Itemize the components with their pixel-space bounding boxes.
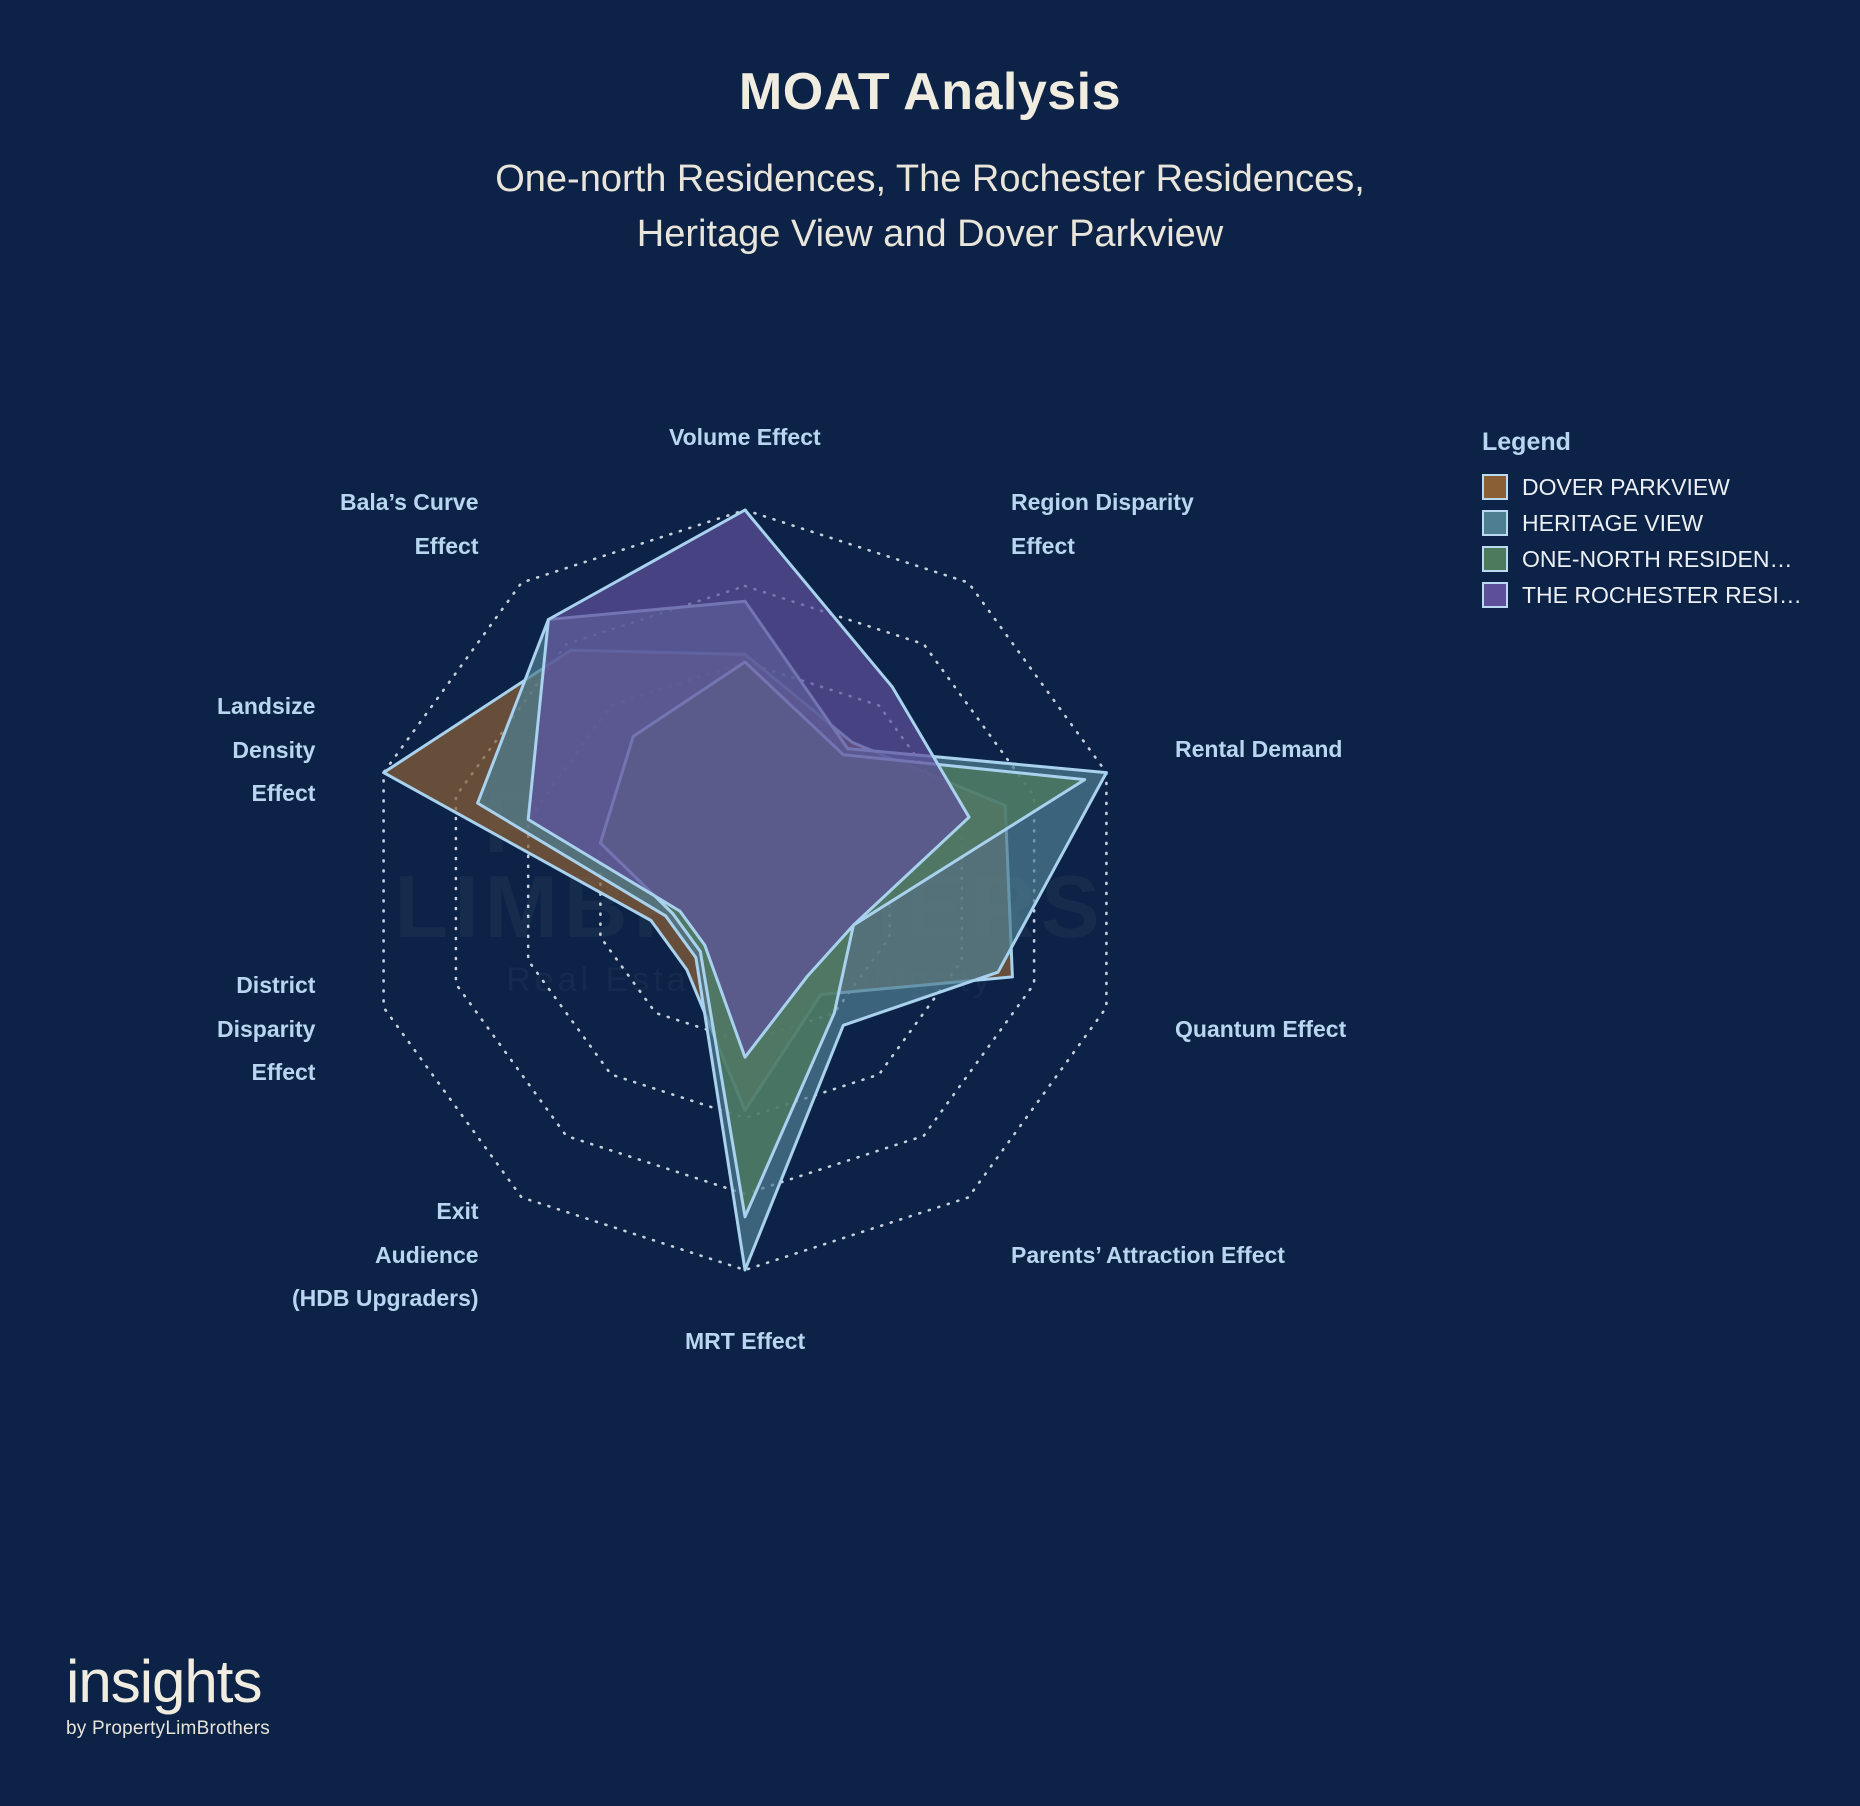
axis-label-line: Region Disparity (1011, 481, 1194, 525)
axis-label-district-disparity-effect: DistrictDisparityEffect (217, 964, 315, 1095)
legend-item[interactable]: HERITAGE VIEW (1482, 505, 1802, 541)
legend-item-label: HERITAGE VIEW (1522, 510, 1703, 537)
axis-label-line: District (217, 964, 315, 1008)
legend-swatch-icon (1482, 474, 1508, 500)
legend-swatch-icon (1482, 546, 1508, 572)
axis-label-region-disparity-effect: Region DisparityEffect (1011, 481, 1194, 568)
legend-item[interactable]: ONE-NORTH RESIDEN… (1482, 541, 1802, 577)
axis-label-line: Density (217, 729, 315, 773)
legend-title: Legend (1482, 428, 1802, 457)
brand-logo: insights by PropertyLimBrothers (66, 1652, 270, 1740)
axis-label-line: Effect (340, 525, 479, 569)
legend-item-label: DOVER PARKVIEW (1522, 474, 1730, 501)
legend-item-label: THE ROCHESTER RESI… (1522, 582, 1802, 609)
axis-label-mrt-effect: MRT Effect (685, 1320, 805, 1364)
axis-label-line: Effect (217, 1051, 315, 1095)
axis-label-line: Volume Effect (669, 416, 821, 460)
axis-label-line: Effect (1011, 525, 1194, 569)
axis-label-rental-demand: Rental Demand (1175, 728, 1342, 772)
radar-chart (0, 0, 1860, 1806)
axis-label-line: (HDB Upgraders) (292, 1277, 479, 1321)
axis-label-line: MRT Effect (685, 1320, 805, 1364)
axis-label-line: Landsize (217, 685, 315, 729)
axis-label-balas-curve-effect: Bala’s CurveEffect (340, 481, 479, 568)
legend-item-label: ONE-NORTH RESIDEN… (1522, 546, 1793, 573)
axis-label-quantum-effect: Quantum Effect (1175, 1008, 1346, 1052)
axis-label-line: Disparity (217, 1008, 315, 1052)
legend-item[interactable]: THE ROCHESTER RESI… (1482, 577, 1802, 613)
axis-label-volume-effect: Volume Effect (669, 416, 821, 460)
axis-label-line: Parents’ Attraction Effect (1011, 1234, 1285, 1278)
legend-swatch-icon (1482, 582, 1508, 608)
axis-label-line: Quantum Effect (1175, 1008, 1346, 1052)
axis-label-exit-audience: ExitAudience(HDB Upgraders) (292, 1190, 479, 1321)
brand-name: insights (66, 1652, 270, 1712)
legend-item[interactable]: DOVER PARKVIEW (1482, 469, 1802, 505)
legend: Legend DOVER PARKVIEWHERITAGE VIEWONE-NO… (1482, 428, 1802, 613)
axis-label-landsize-density-effect: LandsizeDensityEffect (217, 685, 315, 816)
axis-label-line: Bala’s Curve (340, 481, 479, 525)
brand-byline: by PropertyLimBrothers (66, 1718, 270, 1740)
axis-label-line: Effect (217, 772, 315, 816)
axis-label-line: Rental Demand (1175, 728, 1342, 772)
axis-label-parents-attraction-effect: Parents’ Attraction Effect (1011, 1234, 1285, 1278)
legend-swatch-icon (1482, 510, 1508, 536)
axis-label-line: Audience (292, 1234, 479, 1278)
axis-label-line: Exit (292, 1190, 479, 1234)
